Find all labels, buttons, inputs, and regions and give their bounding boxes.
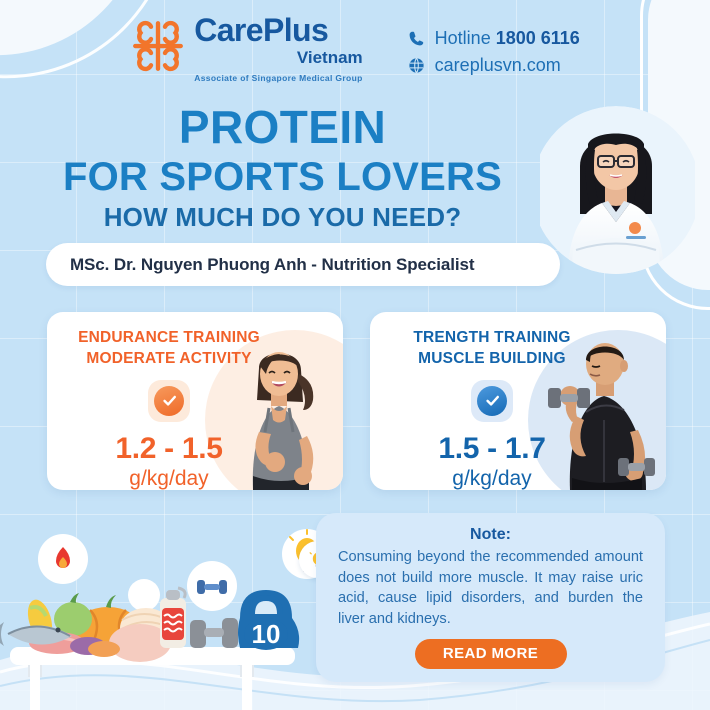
- small-bubble: [128, 579, 160, 611]
- kettlebell-weight-label: 10: [252, 619, 281, 649]
- note-body: Consuming beyond the recommended amount …: [338, 547, 643, 630]
- speaker-name: MSc. Dr. Nguyen Phuong Anh - Nutrition S…: [70, 255, 474, 275]
- card-endurance-training[interactable]: ENDURANCE TRAINING MODERATE ACTIVITY 1.2…: [47, 312, 343, 490]
- logo-country: Vietnam: [194, 47, 362, 68]
- dumbbell-bubble: [187, 561, 237, 611]
- check-circle-icon: [154, 386, 184, 416]
- nutrition-fitness-illustration: 10: [0, 510, 330, 710]
- website-text: careplusvn.com: [435, 55, 561, 76]
- speaker-name-bar: MSc. Dr. Nguyen Phuong Anh - Nutrition S…: [46, 243, 560, 286]
- table-leg-right: [242, 665, 252, 710]
- contact-info: Hotline 1800 6116 careplusvn.com: [407, 28, 580, 76]
- brand-header: CarePlus Vietnam Associate of Singapore …: [0, 14, 710, 83]
- logo-associate-line: Associate of Singapore Medical Group: [194, 73, 362, 83]
- read-more-button[interactable]: READ MORE: [415, 639, 567, 669]
- check-badge: [471, 380, 513, 422]
- check-badge: [148, 380, 190, 422]
- note-panel: Note: Consuming beyond the recommended a…: [316, 513, 665, 682]
- woman-running-photo: [223, 340, 343, 490]
- man-lifting-dumbbell-photo: [534, 330, 666, 490]
- table-leg-left: [30, 665, 40, 710]
- kettlebell: 10: [238, 590, 299, 650]
- hero-title-line2: FOR SPORTS LOVERS: [0, 157, 565, 197]
- table-dumbbell: [190, 618, 238, 648]
- website-row[interactable]: careplusvn.com: [407, 55, 580, 76]
- logo-wordmark: CarePlus: [194, 14, 362, 46]
- hotline-row[interactable]: Hotline 1800 6116: [407, 28, 580, 49]
- flame-bubble: [38, 534, 88, 584]
- check-circle-icon: [477, 386, 507, 416]
- globe-icon: [407, 56, 426, 75]
- brand-logo[interactable]: CarePlus Vietnam Associate of Singapore …: [130, 14, 362, 83]
- hero-subtitle: HOW MUCH DO YOU NEED?: [0, 204, 565, 230]
- carrot: [88, 641, 120, 657]
- phone-icon: [407, 29, 426, 48]
- hotline-text: Hotline 1800 6116: [435, 28, 580, 49]
- careplus-flower-icon: [130, 18, 186, 74]
- infographic-poster: CarePlus Vietnam Associate of Singapore …: [0, 0, 710, 710]
- water-bottle: [160, 588, 186, 648]
- card-strength-training[interactable]: TRENGTH TRAINING MUSCLE BUILDING 1.5 - 1…: [370, 312, 666, 490]
- hero-title-line1: PROTEIN: [0, 104, 565, 150]
- note-title: Note:: [316, 526, 665, 544]
